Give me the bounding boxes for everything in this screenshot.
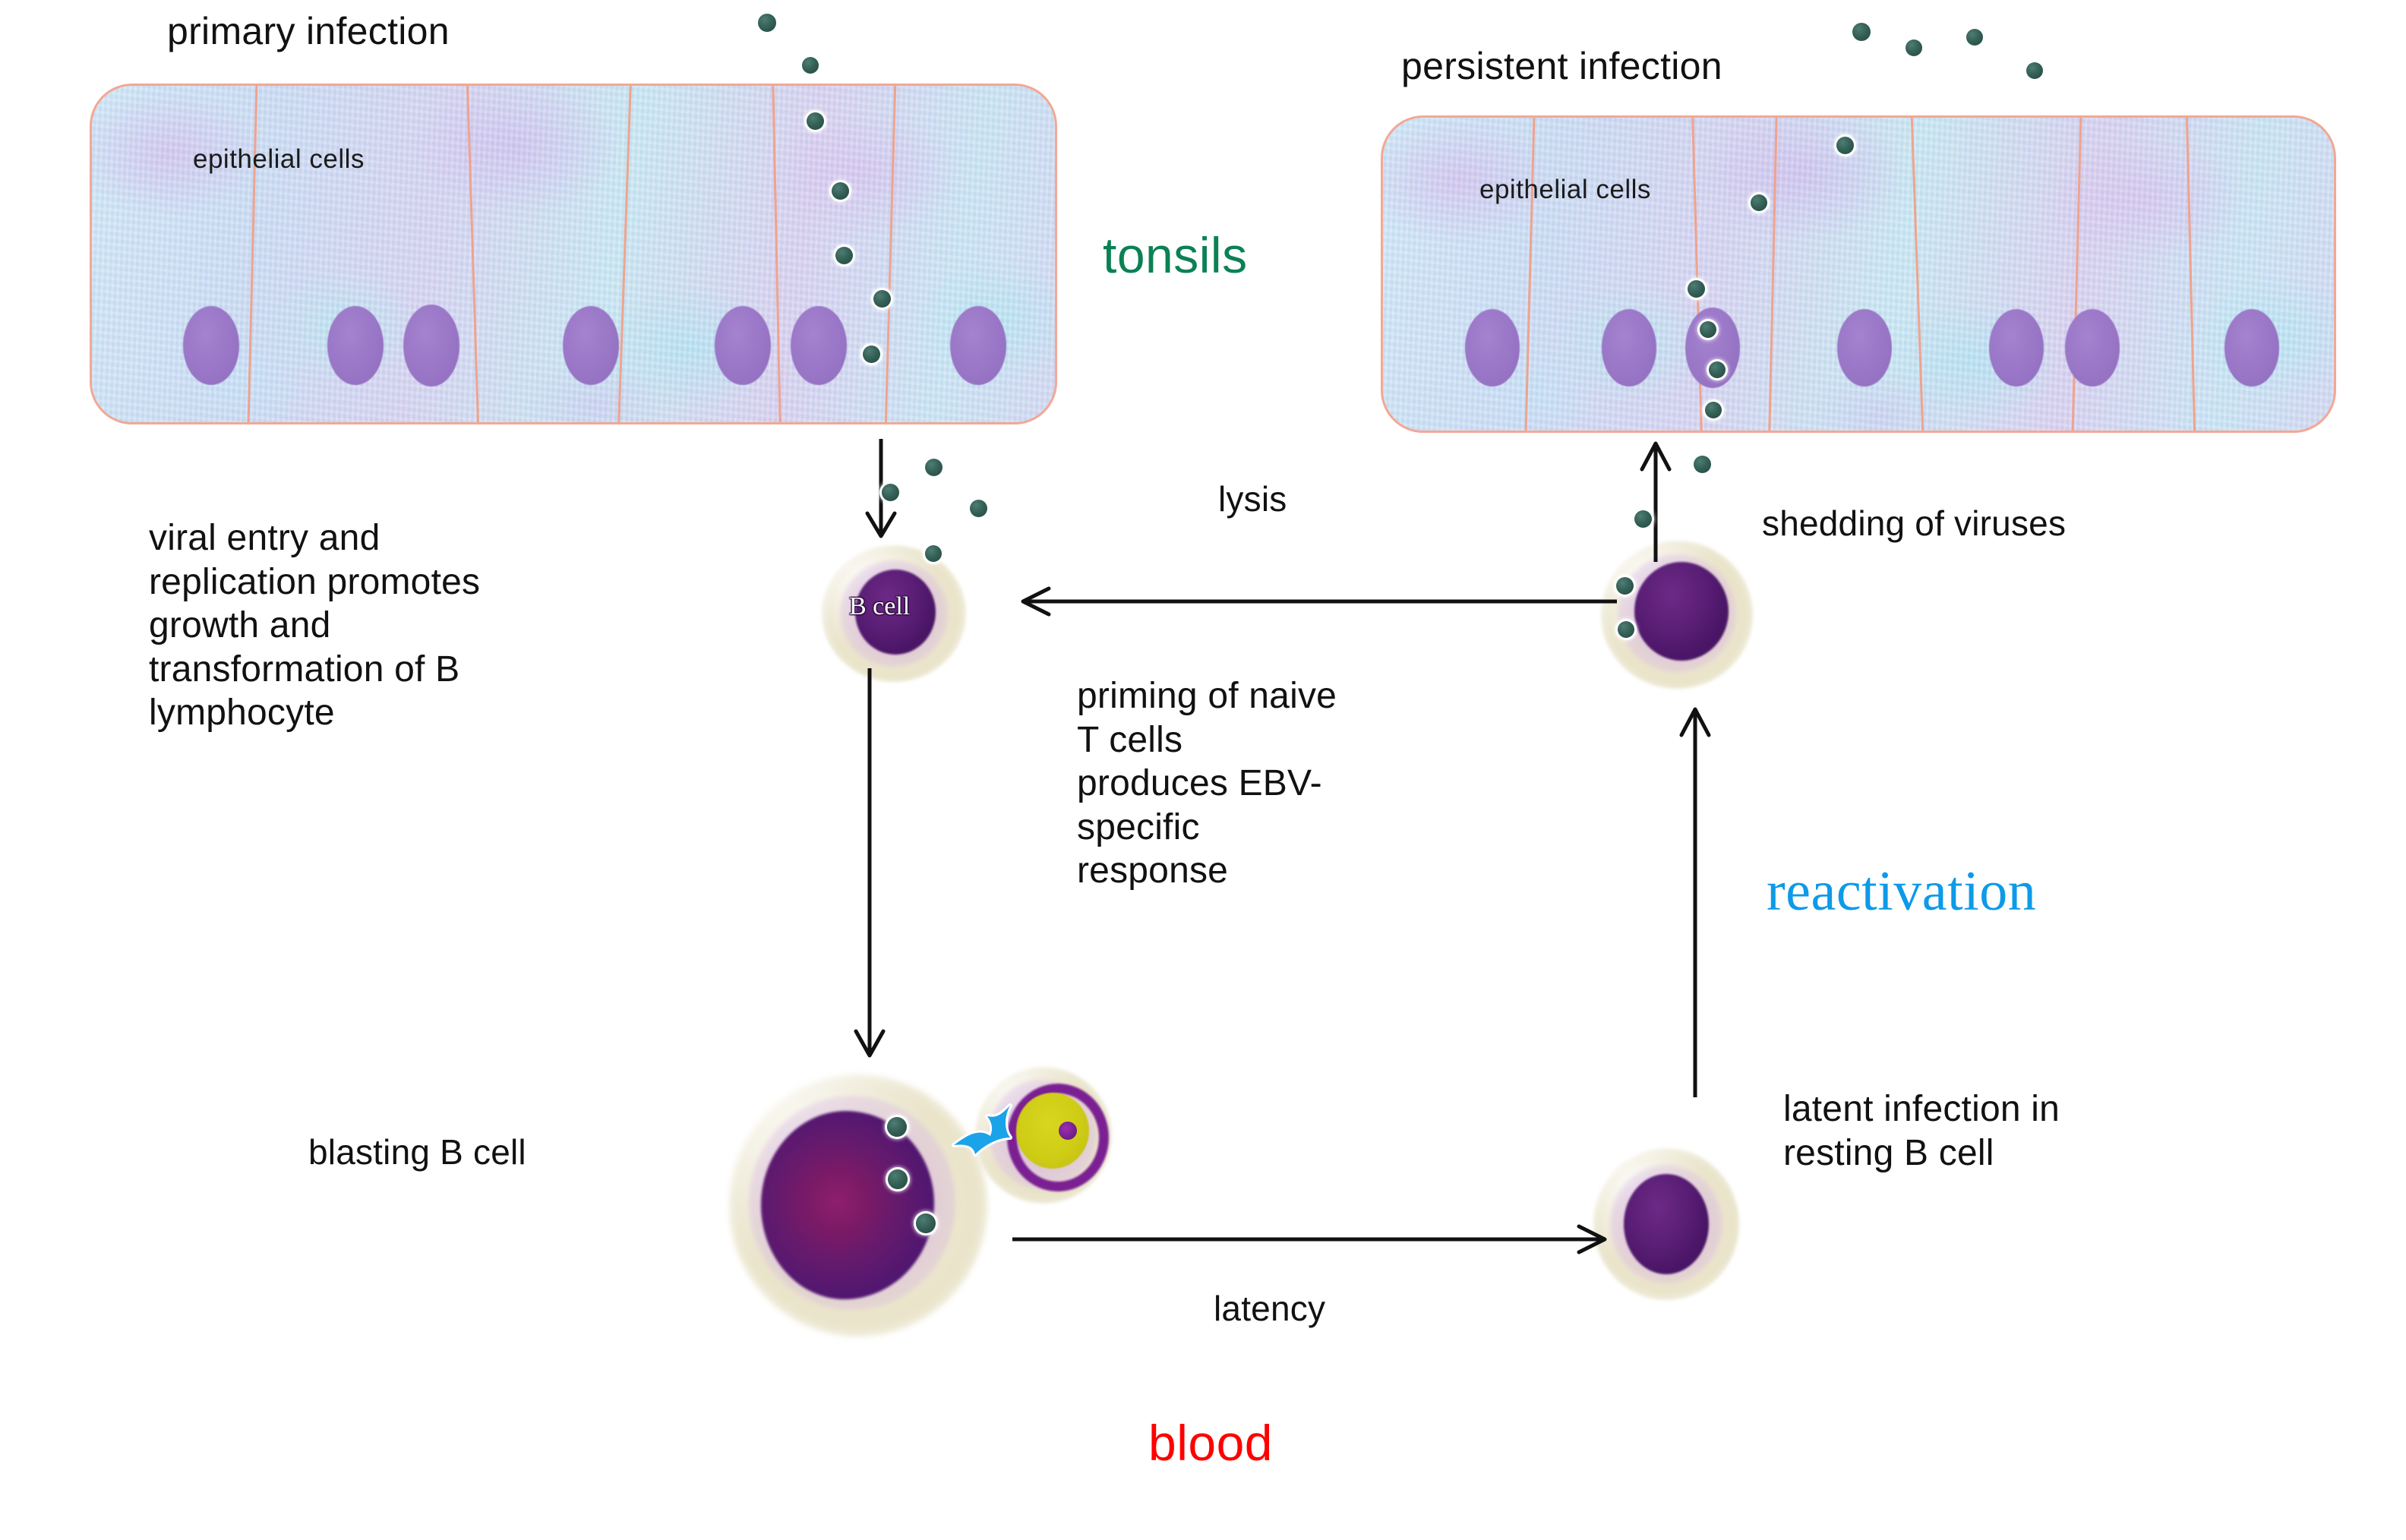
t-cell-nucleolus xyxy=(1059,1122,1077,1140)
cell-boundary xyxy=(885,84,896,424)
viral-entry-line: lymphocyte xyxy=(149,691,756,735)
epithelial-nucleus xyxy=(950,306,1006,385)
cell-boundary xyxy=(2072,116,2082,432)
cell-boundary xyxy=(248,84,258,424)
epithelial-nucleus xyxy=(2224,309,2279,387)
cell-boundary xyxy=(617,84,632,424)
epithelial-nucleus xyxy=(563,306,619,385)
arrow-latency-to-resting xyxy=(1006,1223,1621,1258)
virus-particle xyxy=(1700,321,1716,338)
virus-particle xyxy=(802,57,819,74)
priming-line: specific xyxy=(1077,806,1563,850)
virus-particle xyxy=(1751,194,1767,211)
virus-particle xyxy=(873,290,891,308)
viral-entry-text: viral entry and replication promotes gro… xyxy=(149,516,756,735)
latency-label: latency xyxy=(1214,1288,1325,1329)
epithelial-nucleus xyxy=(791,306,847,385)
region-label-blood: blood xyxy=(1148,1414,1273,1472)
virus-particle xyxy=(925,545,942,562)
blasting-b-cell-label: blasting B cell xyxy=(308,1131,526,1172)
virus-particle xyxy=(1616,577,1634,595)
latent-infection-line: resting B cell xyxy=(1783,1131,2330,1176)
cell-boundary xyxy=(466,84,479,424)
virus-particle xyxy=(1705,402,1722,418)
region-label-reactivation: reactivation xyxy=(1767,860,2036,924)
priming-t-cells-text: priming of naive T cells produces EBV- s… xyxy=(1077,674,1563,893)
lysis-label: lysis xyxy=(1218,478,1287,519)
epithelium-panel-right xyxy=(1381,115,2336,433)
arrow-lysis-to-bcell xyxy=(1006,585,1637,620)
cell-boundary xyxy=(772,84,781,424)
shedding-of-viruses-label: shedding of viruses xyxy=(1762,503,2066,544)
cell-boundary xyxy=(2186,116,2196,432)
epithelial-cells-label-left: epithelial cells xyxy=(193,144,365,175)
arrow-bcell-to-blasting xyxy=(854,668,900,1071)
epithelial-nucleus xyxy=(1989,309,2044,387)
latent-infection-text: latent infection in resting B cell xyxy=(1783,1087,2330,1175)
virus-particle xyxy=(1618,621,1634,638)
virus-particle xyxy=(832,182,849,200)
virus-particle xyxy=(1634,510,1652,528)
viral-entry-line: growth and xyxy=(149,604,756,648)
primary-infection-title: primary infection xyxy=(167,9,450,53)
epithelial-cells-label-right: epithelial cells xyxy=(1479,175,1651,205)
virus-particle xyxy=(887,1117,907,1137)
epithelial-nucleus xyxy=(1837,309,1892,387)
region-label-tonsils: tonsils xyxy=(1103,226,1248,284)
virus-particle xyxy=(888,1169,908,1189)
virus-particle xyxy=(1688,280,1705,298)
epithelial-nucleus xyxy=(2065,309,2120,387)
latent-infection-line: latent infection in xyxy=(1783,1087,2330,1131)
persistent-infection-title: persistent infection xyxy=(1401,44,1722,88)
virus-particle xyxy=(1906,39,1922,56)
epithelial-nucleus xyxy=(183,306,239,385)
priming-line: response xyxy=(1077,849,1563,893)
virus-particle xyxy=(807,112,824,130)
priming-line: T cells xyxy=(1077,718,1563,762)
viral-entry-line: replication promotes xyxy=(149,560,756,604)
cell-boundary xyxy=(1911,116,1924,432)
virus-particle xyxy=(1852,23,1871,41)
priming-line: priming of naive xyxy=(1077,674,1563,718)
epithelial-nucleus xyxy=(1602,309,1656,387)
epithelial-nucleus xyxy=(1465,309,1520,387)
virus-particle xyxy=(882,484,899,501)
viral-entry-line: transformation of B xyxy=(149,648,756,692)
virus-particle xyxy=(1836,137,1854,154)
viral-entry-line: viral entry and xyxy=(149,516,756,560)
reactivated-nucleus xyxy=(1634,562,1729,661)
virus-particle xyxy=(1709,361,1726,378)
epithelium-panel-left xyxy=(90,84,1057,424)
virus-particle xyxy=(863,346,880,363)
virus-particle xyxy=(758,14,776,32)
virus-particle xyxy=(1966,29,1983,46)
t-cell-nucleus xyxy=(1016,1093,1089,1169)
b-cell-inline-label: B cell xyxy=(849,592,910,621)
virus-particle xyxy=(835,247,853,264)
virus-particle xyxy=(925,459,943,476)
epithelial-nucleus xyxy=(715,306,771,385)
epithelial-nucleus xyxy=(327,306,384,385)
arrow-cell-to-epithelium xyxy=(1640,425,1686,562)
cell-boundary xyxy=(1768,116,1777,432)
epithelial-nucleus xyxy=(403,305,459,387)
resting-nucleus xyxy=(1624,1174,1709,1274)
blue-pointer-icon xyxy=(937,1103,1021,1171)
virus-particle xyxy=(1694,456,1711,473)
virus-particle xyxy=(2026,62,2043,79)
virus-particle xyxy=(970,500,987,517)
cell-boundary xyxy=(1525,116,1536,432)
priming-line: produces EBV- xyxy=(1077,762,1563,806)
arrow-reactivation-up xyxy=(1680,691,1726,1097)
virus-particle xyxy=(916,1213,936,1233)
ebv-life-cycle-diagram: primary infection epithelial cells persi… xyxy=(0,0,2406,1540)
